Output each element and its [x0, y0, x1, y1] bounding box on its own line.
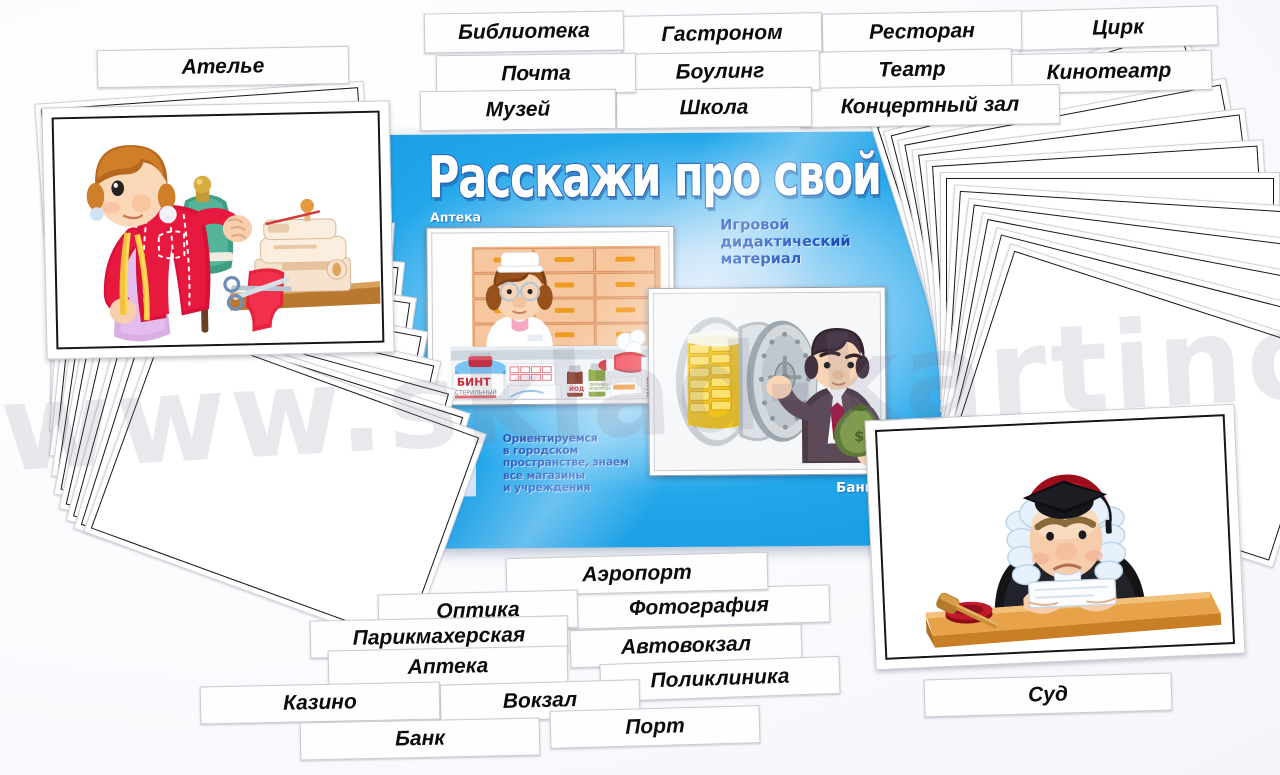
word-card-tsirk[interactable]: Цирк	[1017, 5, 1218, 51]
scene-background: Ателье	[0, 0, 1280, 775]
atelier-illustration	[52, 111, 385, 350]
pharmacy-photo-label: Аптека	[430, 209, 481, 224]
kicker-line-1: Игровой	[720, 217, 850, 235]
product-tagline: Ориентируемся в городском пространстве, …	[503, 432, 629, 494]
bank-photo-inner: $	[653, 291, 882, 471]
word-card-shkola[interactable]: Школа	[616, 87, 812, 129]
pharmacy-photo-inner: БИНТ СТЕРИЛЬНЫЙ	[431, 231, 670, 401]
product-kicker: Игровой дидактический материал	[720, 217, 851, 269]
word-card-kontsertnyy-zal[interactable]: Концертный зал	[800, 84, 1061, 128]
svg-text:ВОДОРОДА: ВОДОРОДА	[590, 387, 611, 391]
svg-text:ЙОД: ЙОД	[569, 385, 584, 393]
kicker-line-3: материал	[720, 251, 850, 269]
word-card-kazino[interactable]: Казино	[200, 681, 441, 724]
picture-card-atelier[interactable]	[41, 100, 394, 359]
svg-text:$: $	[854, 428, 864, 445]
word-card-biblioteka[interactable]: Библиотека	[424, 10, 625, 53]
word-card-gastronom[interactable]: Гастроном	[622, 12, 823, 56]
word-card-bank[interactable]: Банк	[300, 717, 541, 760]
product-title: Расскажи про свой город	[428, 145, 908, 206]
word-card-restoran[interactable]: Ресторан	[822, 10, 1023, 53]
picture-card-label-court[interactable]: Суд	[924, 673, 1173, 718]
kicker-line-2: дидактический	[720, 234, 850, 252]
word-card-muzey[interactable]: Музей	[420, 89, 616, 131]
word-card-port[interactable]: Порт	[550, 705, 761, 749]
tagline-line-5: и учреждения	[503, 481, 629, 494]
court-illustration	[875, 414, 1235, 660]
pharmacy-photo: БИНТ СТЕРИЛЬНЫЙ	[426, 226, 675, 406]
bank-photo: $	[648, 286, 887, 476]
svg-text:БИНТ: БИНТ	[457, 376, 491, 389]
picture-card-court[interactable]	[865, 404, 1246, 671]
picture-card-label-atelier[interactable]: Ателье	[97, 46, 350, 88]
